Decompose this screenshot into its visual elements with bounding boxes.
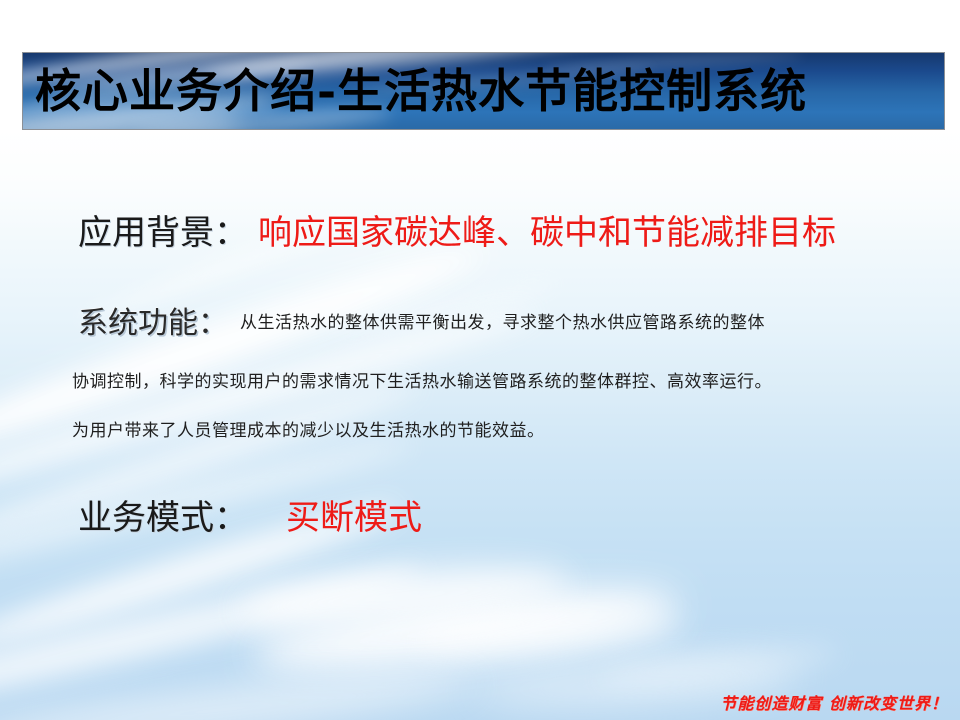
- section-application-background: 应用背景： 响应国家碳达峰、碳中和节能减排目标: [78, 205, 836, 254]
- section-label-business-model: 业务模式：: [78, 498, 248, 538]
- cloud-wisp: [0, 553, 427, 720]
- cloud-wisp: [599, 640, 840, 691]
- section-label-application-background: 应用背景：: [78, 213, 248, 253]
- section-system-function: 系统功能： 从生活热水的整体供需平衡出发，寻求整个热水供应管路系统的整体: [78, 298, 765, 342]
- cloud-wisp: [0, 663, 481, 720]
- cloud-puff: [238, 556, 571, 637]
- cloud-puff: [419, 605, 681, 659]
- section-value-application-background: 响应国家碳达峰、碳中和节能减排目标: [258, 213, 836, 253]
- slide-title-banner: 核心业务介绍-生活热水节能控制系统: [22, 52, 945, 130]
- section-value-business-model: 买断模式: [286, 498, 422, 538]
- presentation-slide: 核心业务介绍-生活热水节能控制系统 应用背景： 响应国家碳达峰、碳中和节能减排目…: [0, 0, 960, 720]
- section-label-system-function: 系统功能：: [78, 306, 228, 341]
- cloud-puff: [248, 572, 682, 686]
- footer-slogan: 节能创造财富 创新改变世界！: [720, 690, 948, 714]
- section-business-model: 业务模式： 买断模式: [78, 490, 422, 539]
- slide-title: 核心业务介绍-生活热水节能控制系统: [23, 53, 944, 129]
- section-function-line-1: 从生活热水的整体供需平衡出发，寻求整个热水供应管路系统的整体: [240, 313, 765, 333]
- section-function-line-3: 为用户带来了人员管理成本的减少以及生活热水的节能效益。: [72, 416, 545, 441]
- section-function-line-2: 协调控制，科学的实现用户的需求情况下生活热水输送管路系统的整体群控、高效率运行。: [72, 367, 772, 392]
